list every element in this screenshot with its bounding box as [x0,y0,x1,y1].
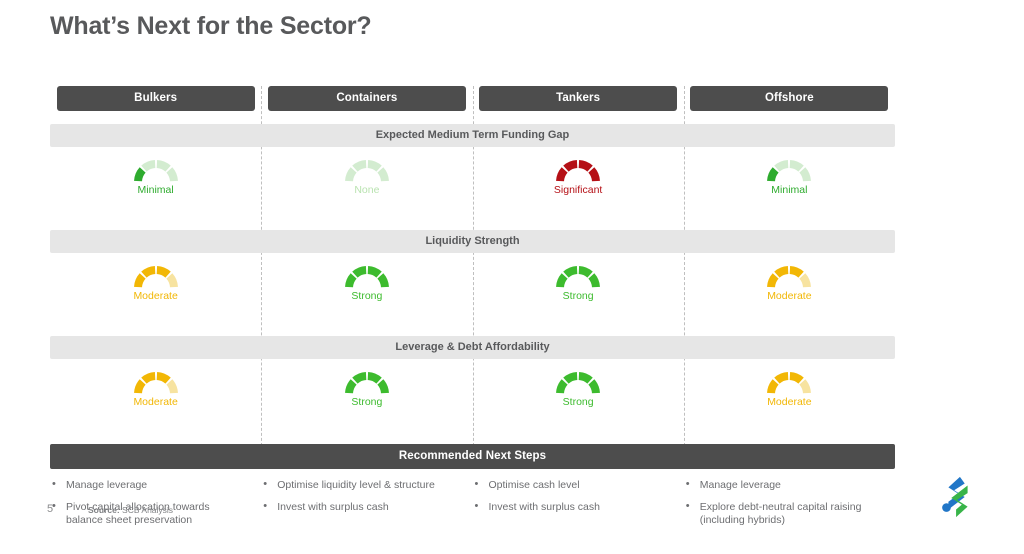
row-band-liquidity-strength: Liquidity Strength [50,230,895,253]
source-text: SCB Analysis [122,505,173,515]
bullet-list: Optimise cash levelInvest with surplus c… [473,479,670,514]
page-number: 5 [47,503,53,515]
next-steps-cell: Optimise liquidity level & structureInve… [261,479,472,536]
row-band-leverage-debt: Leverage & Debt Affordability [50,336,895,359]
gauge-arc [763,261,815,291]
gauge-label: Strong [351,290,382,303]
gauge-label: Moderate [133,290,177,303]
list-item: Invest with surplus cash [261,501,458,514]
gauge-cell: Strong [473,367,684,429]
gauge-arc [130,367,182,397]
gauge-arc [763,367,815,397]
gauge-arc [763,155,815,185]
column-header-cell: Containers [261,86,472,111]
column-header-cell: Bulkers [50,86,261,111]
gauge-cell: Moderate [684,261,895,323]
source-note: Source: SCB Analysis [88,505,173,515]
list-item: Invest with surplus cash [473,501,670,514]
column-header-cell: Offshore [684,86,895,111]
next-steps-cell: Optimise cash levelInvest with surplus c… [473,479,684,536]
gauge-cell: Strong [473,261,684,323]
column-header-offshore[interactable]: Offshore [690,86,888,111]
column-header-bulkers[interactable]: Bulkers [57,86,255,111]
gauge-row-liquidity-strength: ModerateStrongStrongModerate [50,261,895,323]
gauge-label: Strong [351,396,382,409]
list-item: Optimise liquidity level & structure [261,479,458,492]
standard-chartered-logo [934,473,982,521]
gauge-cell: None [261,155,472,217]
list-item: Optimise cash level [473,479,670,492]
gauge-label: Strong [563,396,594,409]
gauge-label: Moderate [133,396,177,409]
gauge-cell: Minimal [684,155,895,217]
column-header-cell: Tankers [473,86,684,111]
source-label: Source: [88,505,120,515]
slide-canvas: What’s Next for the Sector? Bulkers Cont… [0,0,1024,554]
gauge-label: Moderate [767,396,811,409]
bullet-list: Manage leveragePivot capital allocation … [50,479,247,527]
gauge-label: Minimal [138,184,174,197]
gauge-label: Moderate [767,290,811,303]
gauge-cell: Strong [261,261,472,323]
row-band-funding-gap: Expected Medium Term Funding Gap [50,124,895,147]
column-header-tankers[interactable]: Tankers [479,86,677,111]
list-item: Explore debt-neutral capital raising (in… [684,501,881,527]
next-steps-cell: Manage leverageExplore debt-neutral capi… [684,479,895,536]
gauge-arc [341,261,393,291]
gauge-cell: Moderate [684,367,895,429]
gauge-cell: Moderate [50,367,261,429]
gauge-arc [552,367,604,397]
gauge-arc [552,261,604,291]
gauge-cell: Moderate [50,261,261,323]
gauge-label: Minimal [771,184,807,197]
gauge-cell: Significant [473,155,684,217]
gauge-arc [552,155,604,185]
gauge-arc [341,155,393,185]
row-band-recommended-next-steps: Recommended Next Steps [50,444,895,469]
gauge-cell: Strong [261,367,472,429]
column-header-row: Bulkers Containers Tankers Offshore [50,86,895,111]
gauge-cell: Minimal [50,155,261,217]
bullet-list: Optimise liquidity level & structureInve… [261,479,458,514]
gauge-arc [341,367,393,397]
gauge-row-funding-gap: MinimalNoneSignificantMinimal [50,155,895,217]
gauge-row-leverage-debt: ModerateStrongStrongModerate [50,367,895,429]
page-title: What’s Next for the Sector? [50,12,372,41]
next-steps-row: Manage leveragePivot capital allocation … [50,479,895,536]
list-item: Manage leverage [684,479,881,492]
bullet-list: Manage leverageExplore debt-neutral capi… [684,479,881,527]
sector-comparison-grid: Bulkers Containers Tankers Offshore Expe… [50,86,895,536]
gauge-arc [130,155,182,185]
gauge-arc [130,261,182,291]
list-item: Manage leverage [50,479,247,492]
gauge-label: Significant [554,184,602,197]
gauge-label: None [354,184,379,197]
column-header-containers[interactable]: Containers [268,86,466,111]
gauge-label: Strong [563,290,594,303]
